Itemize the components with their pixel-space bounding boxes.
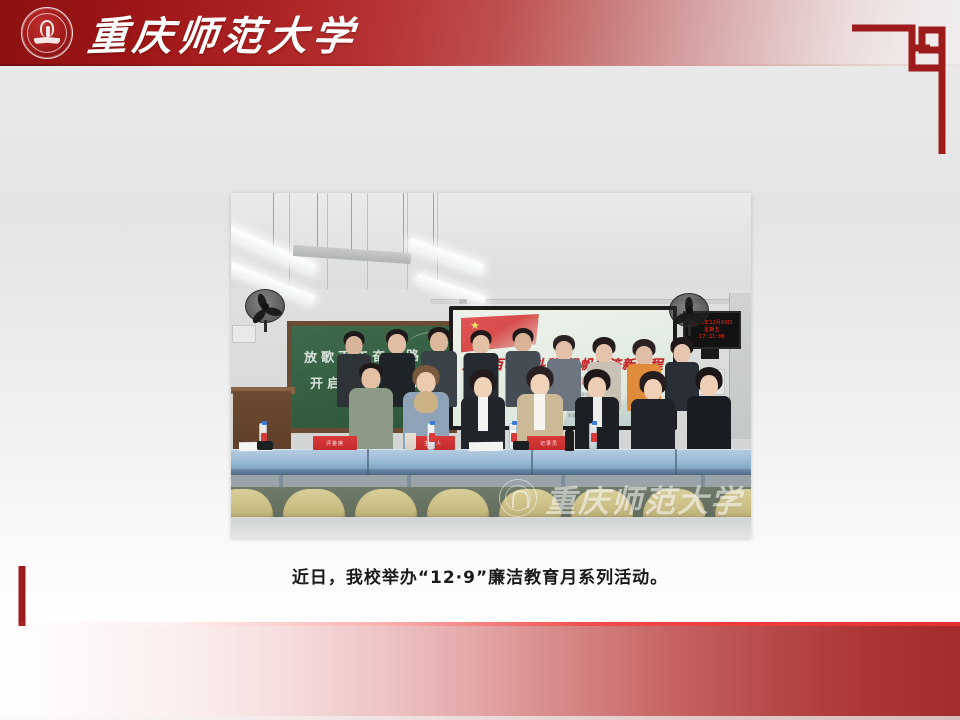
paper-cup — [405, 433, 416, 450]
slide-root: 重 庆 师 范 大 学 — [0, 0, 960, 720]
mobile-phone — [513, 441, 529, 450]
classroom-ceiling — [231, 193, 751, 289]
footer-band — [0, 626, 960, 716]
seal-flame-icon — [40, 20, 54, 37]
footer-edge — [0, 716, 960, 720]
university-seal-icon — [21, 7, 73, 59]
name-card: 评委席 — [313, 436, 357, 450]
table-edge — [231, 469, 751, 475]
seal-emblem — [34, 20, 60, 46]
classroom-floor — [231, 517, 751, 538]
wordmark-char-4: 范 — [219, 3, 269, 62]
wordmark-char-5: 大 — [265, 3, 312, 62]
wordmark-char-3: 师 — [174, 4, 223, 63]
wall-fan-icon — [245, 289, 285, 323]
wordmark-char-2: 庆 — [130, 4, 178, 63]
led-weekday: 星期五 — [704, 327, 720, 333]
photo-canvas: 放歌百年奋斗路 开启聚济新征程 放歌百年奋斗路 扬帆聚济新征程 廉政热点评析活动… — [231, 193, 751, 538]
table-surface — [231, 449, 751, 469]
wall-sensor — [459, 299, 467, 304]
microphone — [565, 429, 574, 451]
header-band: 重 庆 师 范 大 学 — [0, 0, 960, 66]
document-sheet — [469, 442, 503, 452]
conference-tables: 评委席 主持人 记录员 — [231, 449, 751, 489]
photo-caption: 近日，我校举办“12·9”廉洁教育月系列活动。 — [0, 563, 960, 588]
wall-fan-icon — [669, 293, 709, 327]
activity-photo: 放歌百年奋斗路 开启聚济新征程 放歌百年奋斗路 扬帆聚济新征程 廉政热点评析活动… — [231, 193, 751, 538]
seal-book-icon — [34, 37, 60, 44]
wordmark-char-1: 重 — [85, 3, 132, 62]
university-wordmark: 重 庆 师 范 大 学 — [88, 5, 355, 61]
chinese-meander-corner-icon-top-right — [850, 22, 950, 158]
mobile-phone — [257, 441, 273, 450]
wordmark-char-6: 学 — [310, 4, 358, 63]
